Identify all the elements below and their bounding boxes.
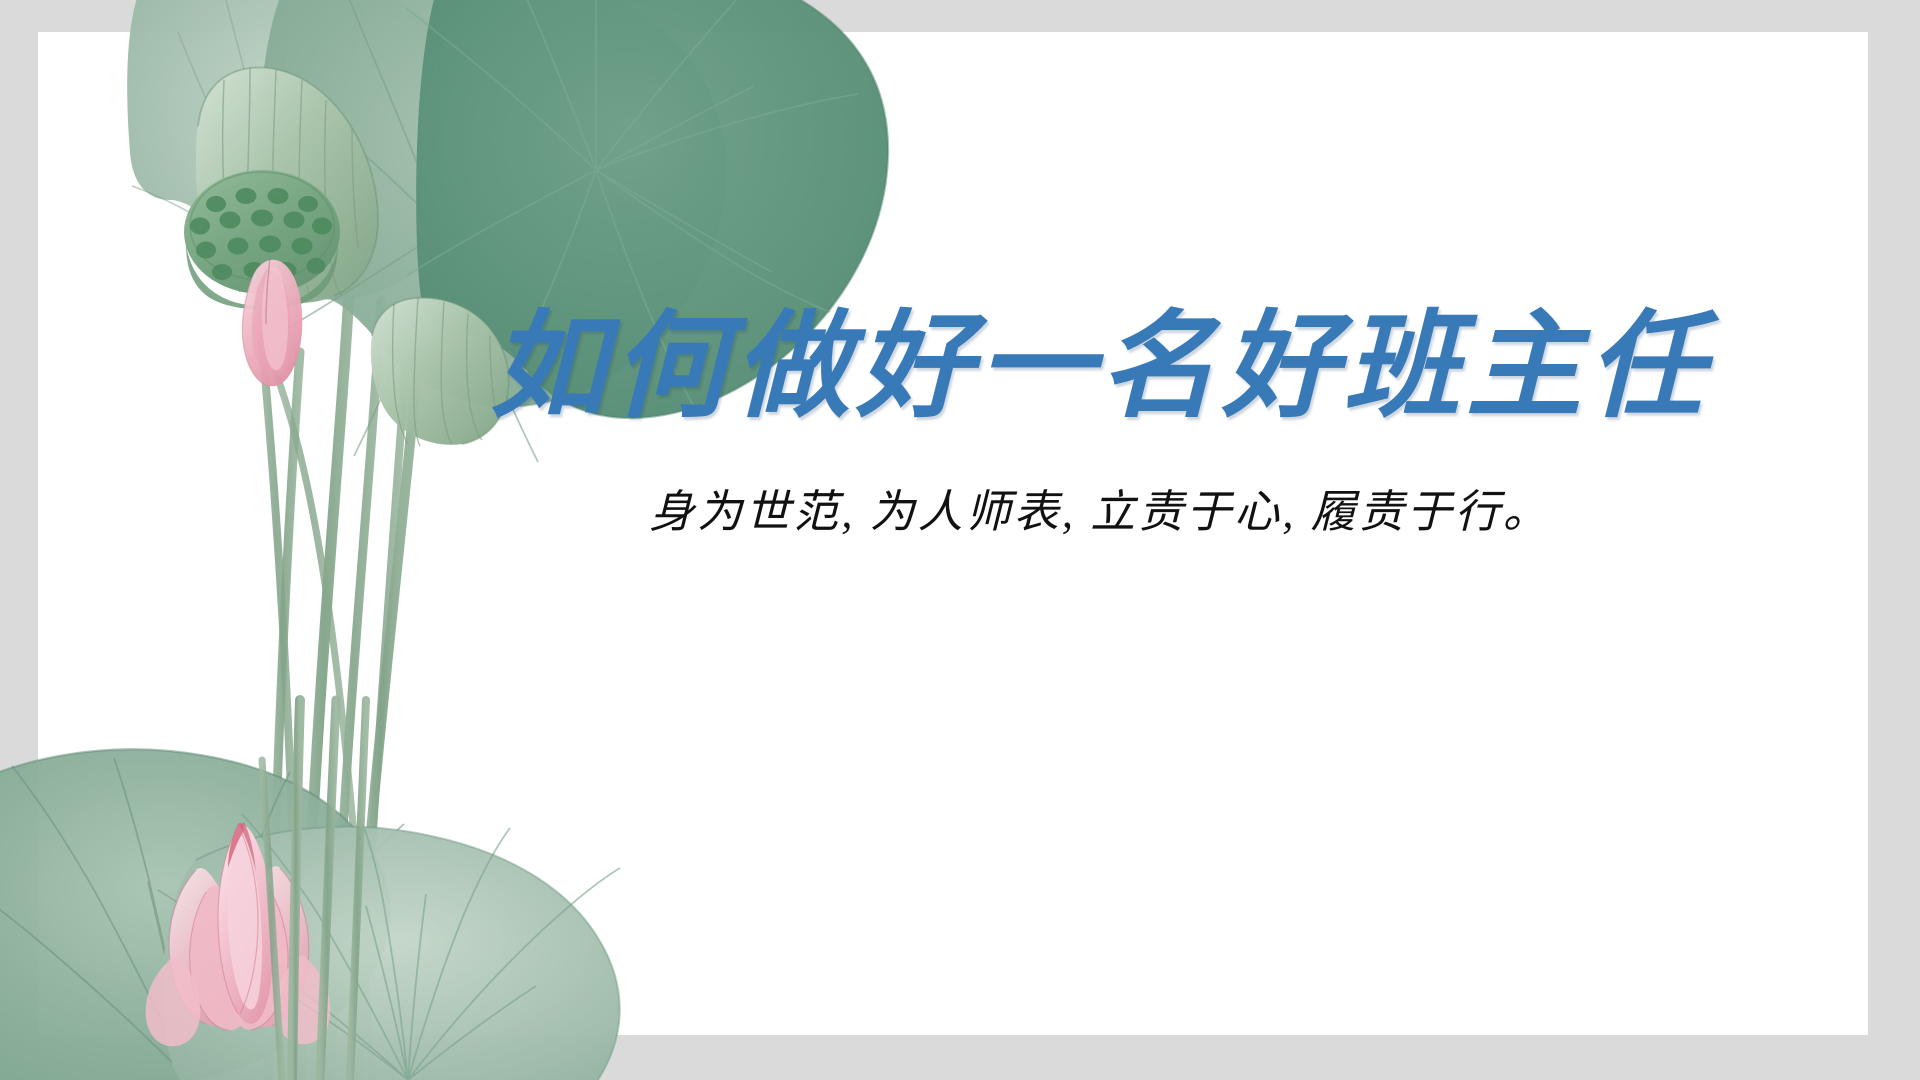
- slide-text-block: 如何做好一名好班主任 身为世范, 为人师表, 立责于心, 履责于行。: [430, 300, 1770, 541]
- presentation-slide: 如何做好一名好班主任 身为世范, 为人师表, 立责于心, 履责于行。: [0, 0, 1920, 1080]
- page-title: 如何做好一名好班主任: [430, 300, 1770, 437]
- page-subtitle: 身为世范, 为人师表, 立责于心, 履责于行。: [430, 483, 1770, 542]
